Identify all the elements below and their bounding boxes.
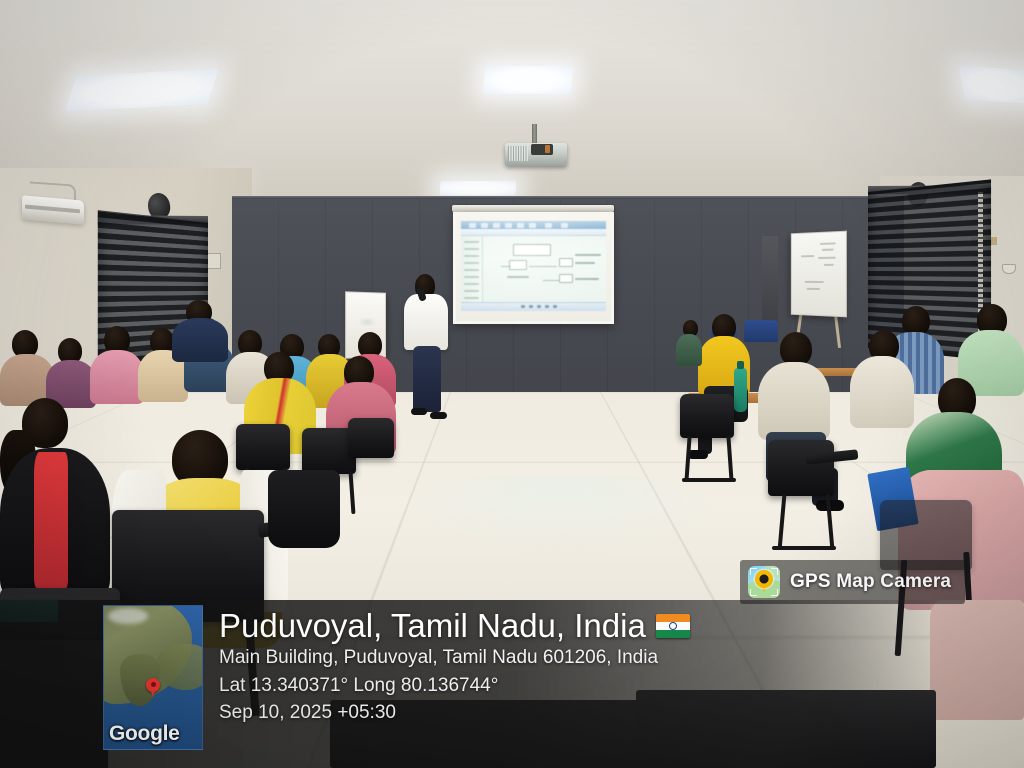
training-chair-with-tablet-arm[interactable] <box>348 418 394 458</box>
photograph: GPS Map Camera Google Puduvoyal, Tamil N… <box>0 0 1024 768</box>
icon-corner-bracket <box>771 589 778 596</box>
gps-map-camera-label: GPS Map Camera <box>790 571 951 593</box>
projector-vent <box>508 146 528 161</box>
gps-info-overlay: Google Puduvoyal, Tamil Nadu, India Main… <box>0 600 930 768</box>
location-title: Puduvoyal, Tamil Nadu, India <box>219 608 930 644</box>
icon-corner-bracket <box>750 568 757 575</box>
attendee-shoe <box>688 450 708 459</box>
presenter-shoe <box>430 412 447 419</box>
gps-map-camera-icon <box>748 566 780 598</box>
wall-switch-box <box>207 253 221 269</box>
wall-fixture <box>1002 264 1016 274</box>
whiteboard-easel <box>791 231 847 318</box>
location-title-text: Puduvoyal, Tamil Nadu, India <box>219 608 646 644</box>
ceiling-light-panel <box>483 66 573 94</box>
attendee-torso <box>758 362 830 440</box>
map-cloud <box>108 608 148 624</box>
projector-indicator <box>545 145 550 153</box>
training-chair-with-tablet-arm[interactable] <box>768 440 834 496</box>
presenter-shoe <box>411 408 427 415</box>
attendee-torso <box>172 318 228 362</box>
projector-body <box>505 143 567 166</box>
training-chair-with-tablet-arm[interactable] <box>236 424 290 470</box>
projection-screen <box>453 212 614 324</box>
chair-base-bar <box>772 546 836 550</box>
ceiling-light-panel <box>440 181 517 195</box>
gps-map-camera-watermark: GPS Map Camera <box>740 560 965 604</box>
projection-screen-case <box>452 205 614 212</box>
gps-text-block: Puduvoyal, Tamil Nadu, India Main Buildi… <box>219 608 930 726</box>
attendee-torso <box>90 350 144 404</box>
projected-diagram-canvas <box>483 236 606 302</box>
map-thumbnail[interactable]: Google <box>103 605 203 750</box>
location-pin-icon <box>146 678 160 692</box>
blue-chair[interactable] <box>744 320 778 342</box>
india-flag-emoji <box>656 614 690 638</box>
attendee-torso <box>676 334 702 366</box>
location-address: Main Building, Puduvoyal, Tamil Nadu 601… <box>219 644 930 671</box>
icon-corner-bracket <box>771 568 778 575</box>
water-bottle <box>734 368 747 412</box>
presenter-shirt <box>404 294 448 350</box>
wall-ceiling-seam <box>232 196 904 199</box>
projected-toolbar <box>461 229 606 236</box>
training-chair-with-tablet-arm[interactable] <box>680 394 734 438</box>
capture-timestamp: Sep 10, 2025 +05:30 <box>219 699 930 726</box>
presenter-trousers <box>413 346 441 412</box>
projected-title-bar <box>461 221 606 229</box>
google-attribution: Google <box>109 722 180 746</box>
attendee-saree <box>930 600 1024 720</box>
handbag <box>268 470 340 548</box>
projected-status-bar <box>461 302 606 311</box>
attendee-torso <box>850 356 914 428</box>
projector-mount-rod <box>532 124 537 145</box>
icon-corner-bracket <box>750 589 757 596</box>
ceiling-projector <box>505 124 567 166</box>
projected-application-window <box>461 221 606 311</box>
ceiling-light-panel <box>958 66 1024 105</box>
attendee-dupatta <box>34 452 68 588</box>
projected-sidebar <box>461 236 483 302</box>
ceiling-light-panel <box>65 68 219 111</box>
location-coordinates: Lat 13.340371° Long 80.136744° <box>219 672 930 699</box>
chair-base-bar <box>682 478 736 482</box>
attendee-head <box>780 332 812 366</box>
